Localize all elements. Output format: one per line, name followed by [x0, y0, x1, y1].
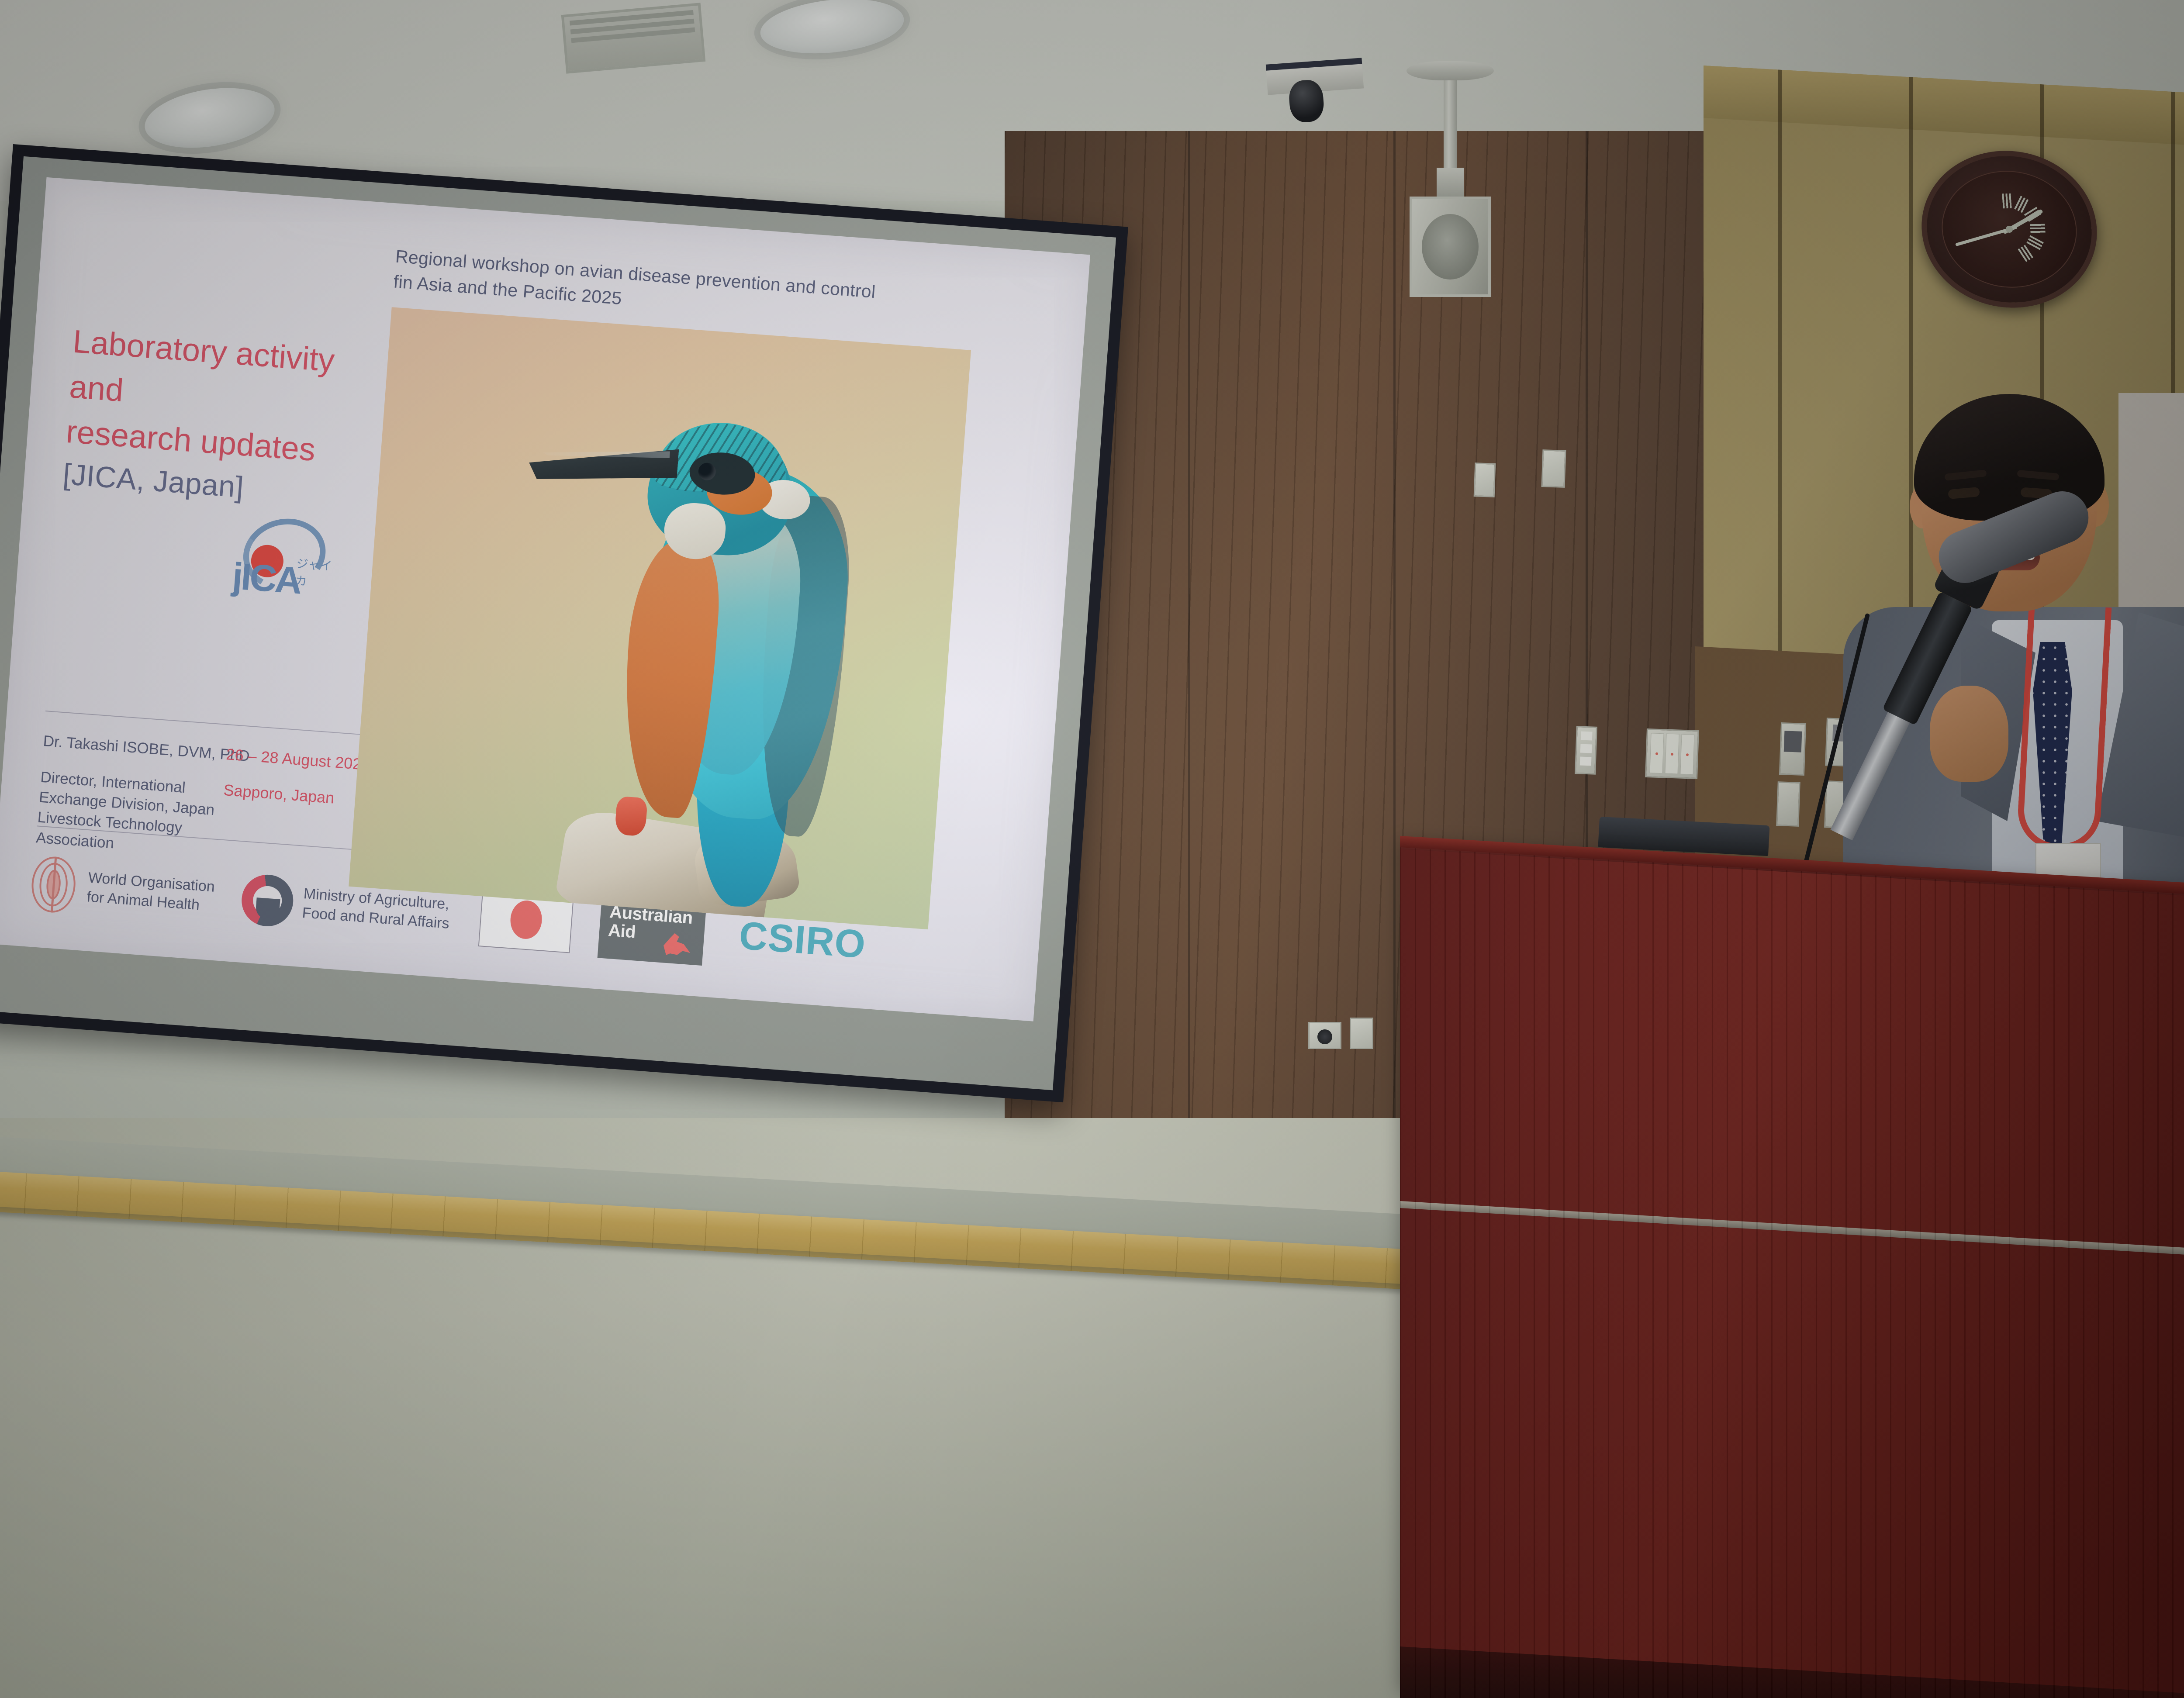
jica-wordmark: jICA	[231, 557, 302, 600]
light-switch-panel[interactable]	[1575, 726, 1597, 775]
hand	[1930, 686, 2008, 782]
lectern	[1400, 847, 2184, 1698]
woah-logo: World Organisation for Animal Health	[29, 855, 216, 925]
power-outlet	[1308, 1022, 1341, 1049]
hinomaru-disc-icon	[509, 899, 543, 940]
ceiling-speaker-icon	[1406, 61, 1494, 297]
divider-rule-top	[45, 711, 377, 736]
woah-mark-icon	[29, 855, 80, 915]
clock-center-pin	[2005, 226, 2013, 233]
lectern-trim	[1400, 1201, 2184, 1260]
presenter-affiliation: Director, International Exchange Divisio…	[35, 767, 229, 862]
woah-logo-text: World Organisation for Animal Health	[86, 868, 215, 916]
conference-room-photo: Regional workshop on avian disease preve…	[0, 0, 2184, 1698]
presenter-name: Dr. Takashi ISOBE, DVM, PhD	[42, 732, 250, 765]
mafra-mark-icon	[240, 873, 295, 928]
jica-logo: ジャイカ jICA	[221, 515, 336, 610]
kingfisher-bird	[492, 344, 969, 930]
dimmer-keypad-panel[interactable]	[1645, 728, 1699, 779]
power-outlet	[1350, 1018, 1373, 1049]
event-dates: 26 – 28 August 2025	[225, 745, 371, 774]
slide-title: Laboratory activity and research updates	[65, 319, 380, 477]
projection-surface: Regional workshop on avian disease preve…	[0, 156, 1116, 1090]
projection-screen: Regional workshop on avian disease preve…	[0, 144, 1128, 1102]
wall-plate	[1474, 462, 1496, 497]
lanyard	[2016, 603, 2111, 852]
clock-face	[1938, 170, 2080, 289]
wall-plate	[1541, 449, 1566, 488]
wall-switch[interactable]	[1776, 781, 1800, 827]
event-location: Sapporo, Japan	[223, 781, 335, 808]
ceiling-vent-icon	[561, 3, 706, 73]
intercom-panel[interactable]	[1779, 722, 1806, 776]
kingfisher-photo	[349, 307, 971, 929]
presentation-slide: Regional workshop on avian disease preve…	[0, 177, 1090, 1022]
